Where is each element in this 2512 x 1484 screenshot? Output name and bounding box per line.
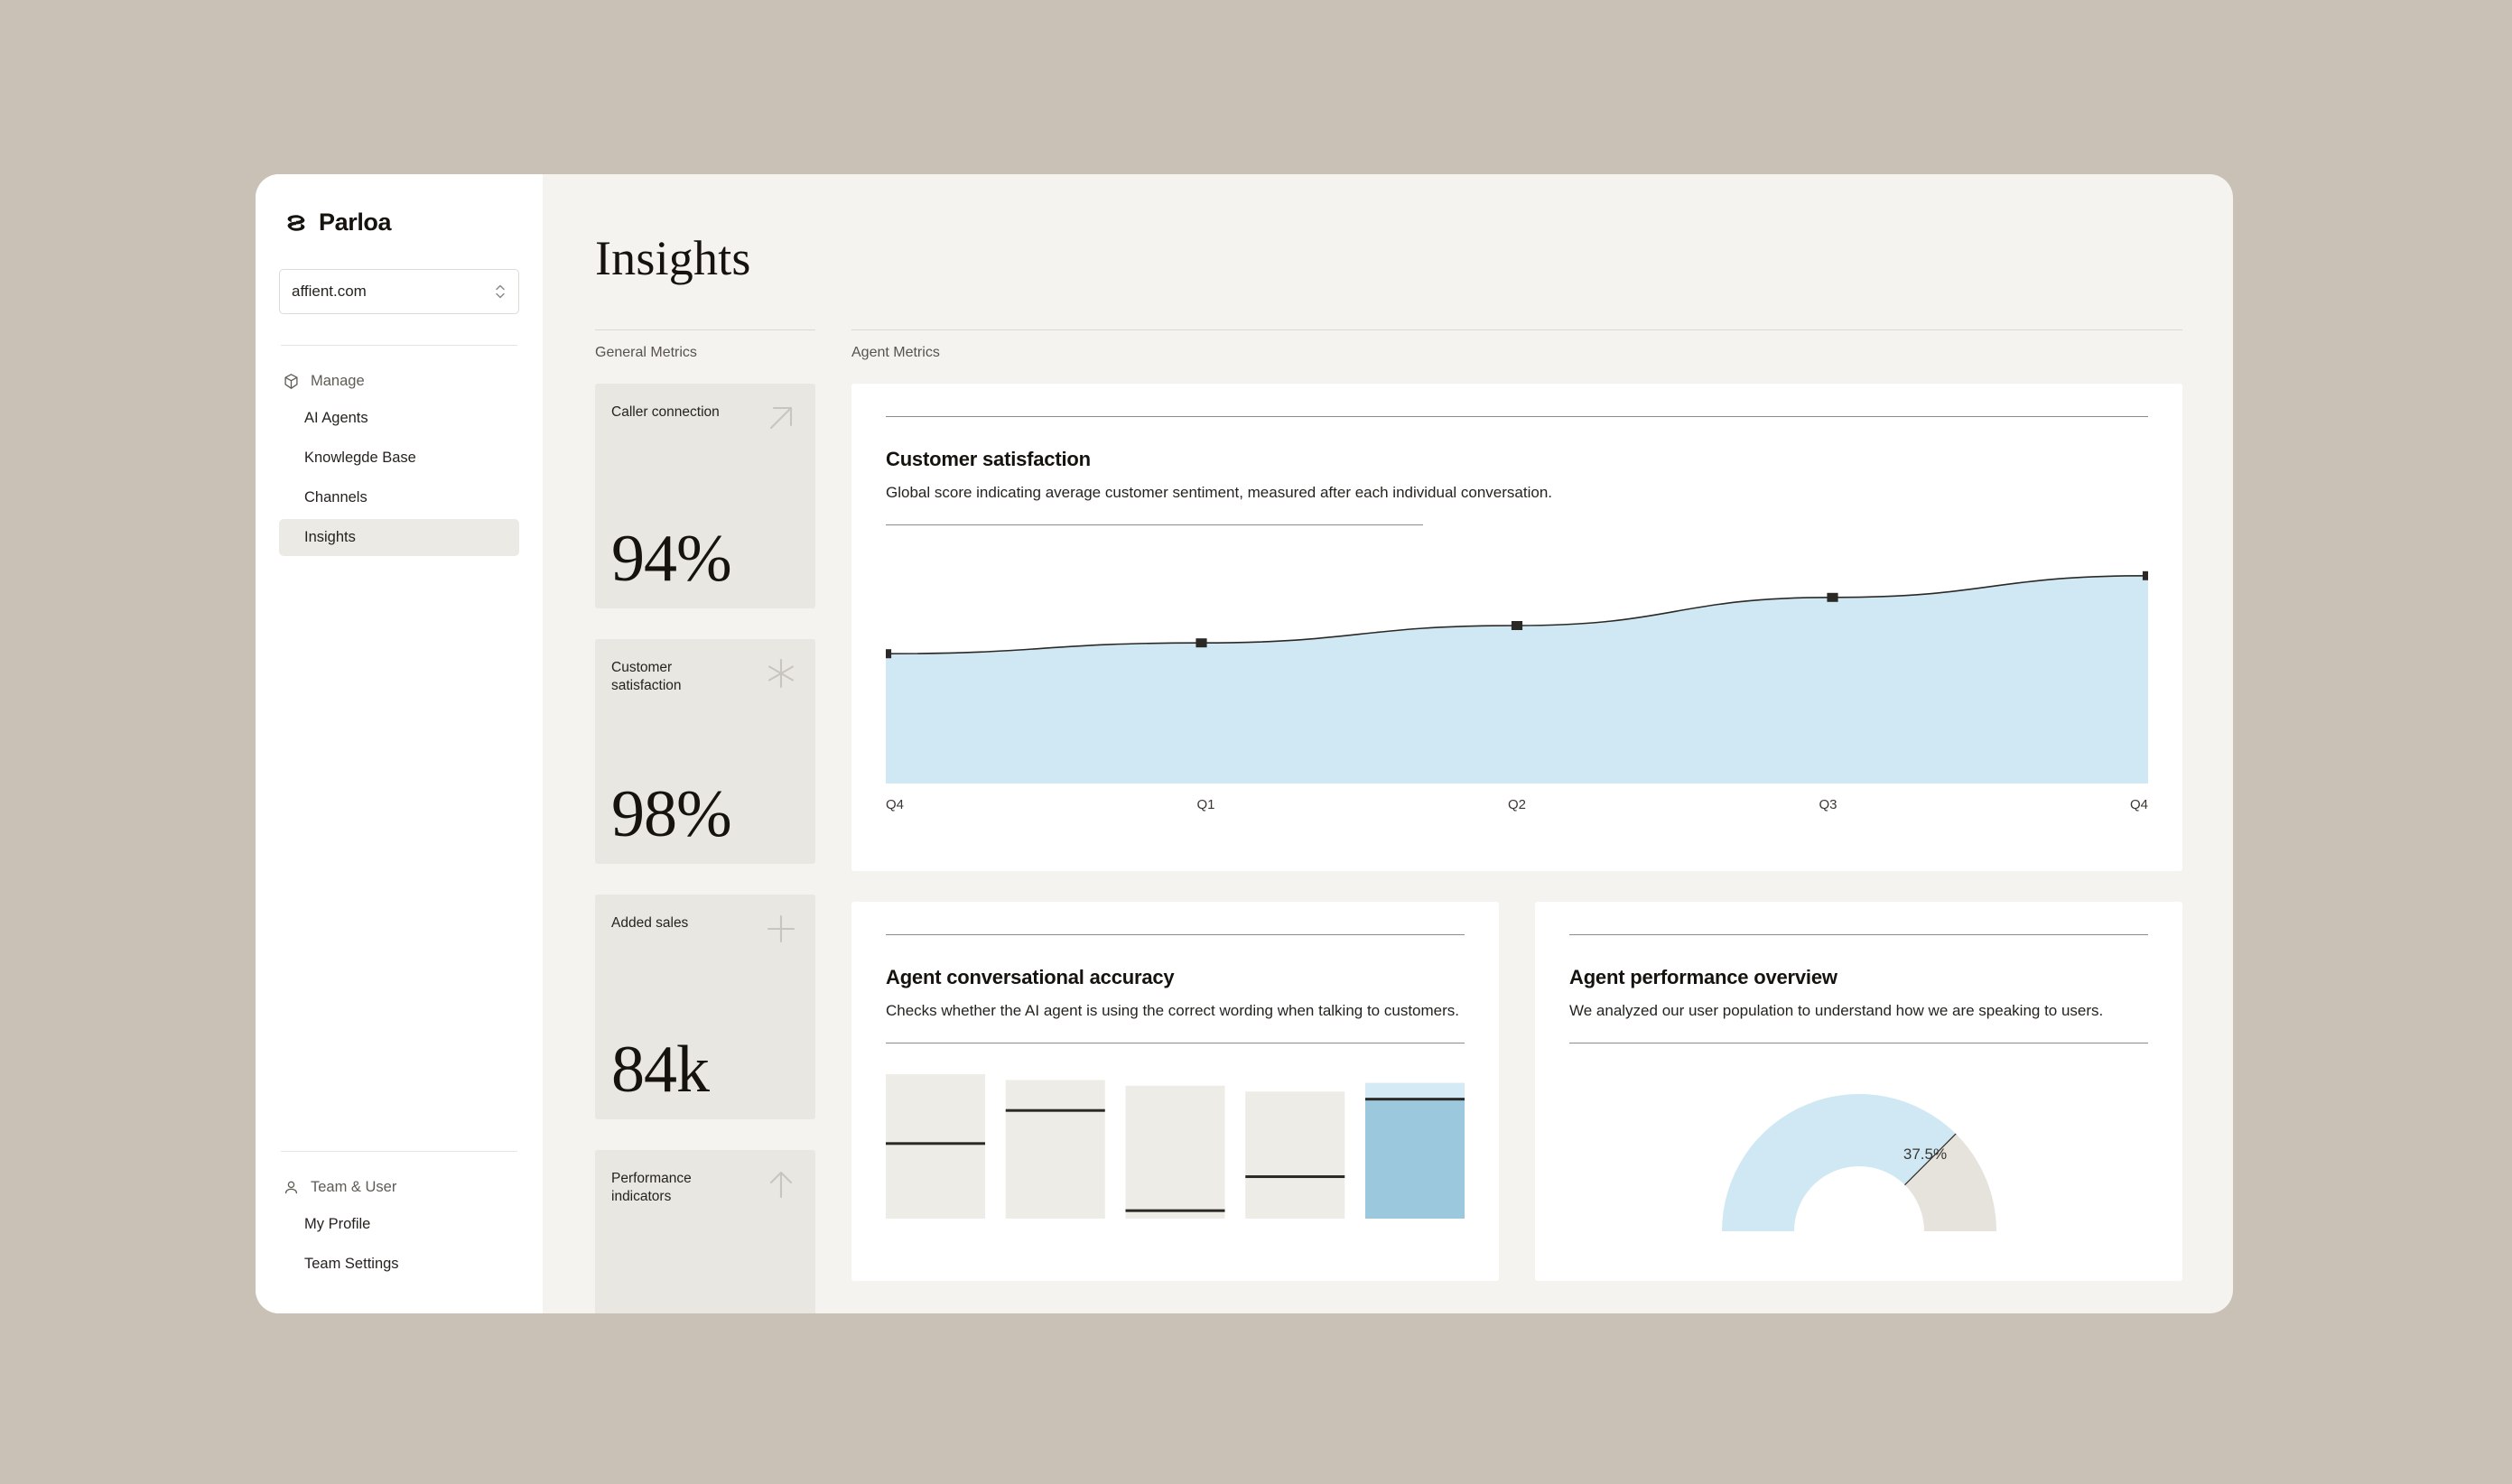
asterisk-icon bbox=[761, 654, 801, 693]
area-chart-customer-satisfaction: Q4 Q1 Q2 Q3 Q4 bbox=[886, 558, 2148, 812]
donut-chart-svg: 37.5% bbox=[1710, 1060, 2008, 1231]
x-tick-label: Q1 bbox=[1196, 797, 1214, 812]
area-chart-svg bbox=[886, 558, 2148, 784]
x-tick-label: Q4 bbox=[886, 797, 904, 812]
chevron-up-down-icon bbox=[493, 280, 507, 303]
card-title: Customer satisfaction bbox=[886, 448, 2148, 471]
app-window: Parloa affient.com Manage bbox=[256, 174, 2233, 1313]
x-tick-label: Q4 bbox=[2130, 797, 2148, 812]
card-description: Checks whether the AI agent is using the… bbox=[886, 1000, 1465, 1023]
metric-tile-label: Performance indicators bbox=[611, 1170, 738, 1207]
card-rule-bottom bbox=[886, 524, 1423, 525]
arrow-up-icon bbox=[761, 1164, 801, 1204]
card-description: We analyzed our user population to under… bbox=[1569, 1000, 2148, 1023]
metric-tile-value: 84k bbox=[611, 1036, 797, 1103]
nav-group-header-team-user[interactable]: Team & User bbox=[279, 1172, 519, 1203]
sidebar-spacer bbox=[279, 556, 519, 1151]
main-content: Insights General Metrics Agent Metrics C… bbox=[543, 174, 2233, 1313]
parloa-logo-icon bbox=[284, 213, 308, 233]
user-icon bbox=[283, 1179, 300, 1196]
sidebar: Parloa affient.com Manage bbox=[256, 174, 543, 1313]
sidebar-divider-top bbox=[281, 345, 517, 346]
bar-chart-svg bbox=[886, 1074, 1465, 1219]
sidebar-item-insights[interactable]: Insights bbox=[279, 519, 519, 556]
donut-annotation: 37.5% bbox=[1903, 1145, 1946, 1163]
cube-icon bbox=[283, 373, 300, 390]
card-rule-top bbox=[1569, 934, 2148, 935]
brand-name: Parloa bbox=[319, 209, 391, 237]
metric-tile-performance-indicators[interactable]: Performance indicators bbox=[595, 1150, 815, 1313]
card-agent-performance-overview: Agent performance overview We analyzed o… bbox=[1535, 902, 2182, 1281]
card-rule-bottom bbox=[886, 1043, 1465, 1043]
tab-general-metrics[interactable]: General Metrics bbox=[595, 329, 815, 361]
card-rule-top bbox=[886, 416, 2148, 417]
bottom-card-row: Agent conversational accuracy Checks whe… bbox=[851, 902, 2182, 1281]
card-title: Agent performance overview bbox=[1569, 966, 2148, 989]
nav-group-team-user: Team & User My Profile Team Settings bbox=[279, 1172, 519, 1313]
nav-group-header-manage[interactable]: Manage bbox=[279, 366, 519, 397]
page-title: Insights bbox=[595, 174, 2182, 286]
sidebar-item-channels[interactable]: Channels bbox=[279, 479, 519, 516]
tab-row: General Metrics Agent Metrics bbox=[595, 329, 2182, 361]
brand: Parloa bbox=[279, 174, 519, 237]
nav-group-label-team-user: Team & User bbox=[311, 1179, 396, 1196]
metric-tile-caller-connection[interactable]: Caller connection 94% bbox=[595, 384, 815, 608]
tab-agent-metrics[interactable]: Agent Metrics bbox=[851, 329, 2182, 361]
card-agent-conversational-accuracy: Agent conversational accuracy Checks whe… bbox=[851, 902, 1499, 1281]
metric-tile-value: 94% bbox=[611, 525, 797, 592]
metric-tile-customer-satisfaction[interactable]: Customer satisfaction 98% bbox=[595, 639, 815, 864]
metric-tile-label: Caller connection bbox=[611, 403, 738, 422]
nav-group-manage: Manage AI Agents Knowlegde Base Channels… bbox=[279, 366, 519, 556]
org-select-value: affient.com bbox=[292, 283, 367, 301]
sidebar-item-my-profile[interactable]: My Profile bbox=[279, 1206, 519, 1243]
card-title: Agent conversational accuracy bbox=[886, 966, 1465, 989]
area-chart-x-labels: Q4 Q1 Q2 Q3 Q4 bbox=[886, 797, 2148, 812]
sidebar-item-knowledge-base[interactable]: Knowlegde Base bbox=[279, 440, 519, 477]
metric-tile-label: Customer satisfaction bbox=[611, 659, 738, 696]
plus-icon bbox=[761, 909, 801, 949]
metric-tile-added-sales[interactable]: Added sales 84k bbox=[595, 895, 815, 1119]
donut-chart-agent-performance: 37.5% bbox=[1569, 1060, 2148, 1231]
card-rule-top bbox=[886, 934, 1465, 935]
charts-column: Customer satisfaction Global score indic… bbox=[851, 384, 2182, 1313]
card-description: Global score indicating average customer… bbox=[886, 482, 2148, 505]
x-tick-label: Q3 bbox=[1819, 797, 1837, 812]
arrow-up-right-icon bbox=[761, 398, 801, 438]
nav-group-label-manage: Manage bbox=[311, 373, 365, 390]
sidebar-divider-bottom bbox=[281, 1151, 517, 1152]
org-select[interactable]: affient.com bbox=[279, 269, 519, 314]
metric-tiles: Caller connection 94% Customer satisfact… bbox=[595, 384, 815, 1313]
card-customer-satisfaction: Customer satisfaction Global score indic… bbox=[851, 384, 2182, 871]
card-rule-bottom bbox=[1569, 1043, 2148, 1043]
content-row: Caller connection 94% Customer satisfact… bbox=[595, 384, 2182, 1313]
sidebar-item-team-settings[interactable]: Team Settings bbox=[279, 1246, 519, 1283]
bar-chart-agent-accuracy bbox=[886, 1074, 1465, 1223]
metric-tile-value: 98% bbox=[611, 781, 797, 848]
x-tick-label: Q2 bbox=[1508, 797, 1526, 812]
sidebar-item-ai-agents[interactable]: AI Agents bbox=[279, 400, 519, 437]
metric-tile-label: Added sales bbox=[611, 914, 738, 932]
